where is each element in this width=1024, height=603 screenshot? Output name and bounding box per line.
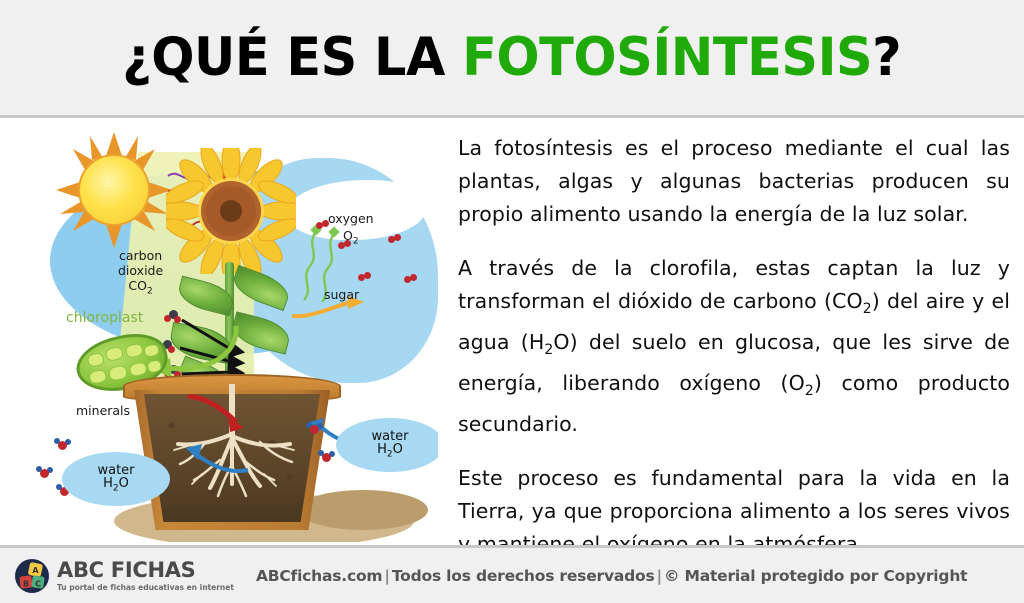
footer-copyright: © Material protegido por Copyright	[664, 567, 967, 585]
p2-sub1: 2	[863, 301, 872, 317]
content-area: water H2O water H2O carbon dioxide CO2 o…	[0, 118, 1024, 545]
page-title: ¿QUÉ ES LA FOTOSÍNTESIS?	[122, 31, 901, 84]
footer-rights: Todos los derechos reservados	[392, 567, 655, 585]
p2-sub3: 2	[805, 383, 814, 399]
water-formula-right: H2O	[377, 443, 403, 460]
sugar-label: sugar	[324, 288, 359, 303]
infographic-page: ¿QUÉ ES LA FOTOSÍNTESIS?	[0, 0, 1024, 603]
photosynthesis-illustration: water H2O water H2O carbon dioxide CO2 o…	[18, 122, 438, 542]
water-label-right: water	[371, 430, 408, 444]
water-uptake-arrow-left-icon	[180, 442, 252, 476]
minerals-label: minerals	[76, 404, 130, 419]
page-title-black: ¿QUÉ ES LA	[122, 27, 462, 88]
water-callout-left: water H2O	[62, 452, 170, 506]
logo-name: ABC FICHAS	[57, 560, 234, 581]
sun-illustration	[54, 130, 174, 250]
chloroplast-label: chloroplast	[66, 310, 143, 327]
water-label-left: water	[97, 464, 134, 478]
abcfichas-logo-text: ABC FICHAS Tu portal de fichas educativa…	[57, 560, 234, 592]
abc-circle-icon: A B C	[14, 558, 50, 594]
header-band: ¿QUÉ ES LA FOTOSÍNTESIS?	[0, 0, 1024, 118]
svg-text:A: A	[32, 566, 39, 575]
water-formula-left: H2O	[103, 477, 129, 494]
oxygen-label: oxygen O2	[328, 212, 374, 247]
svg-text:C: C	[35, 579, 41, 588]
abcfichas-logo-mark: A B C	[14, 558, 50, 594]
sun-core	[80, 156, 148, 224]
page-title-green: FOTOSÍNTESIS	[462, 27, 872, 88]
svg-text:B: B	[23, 579, 29, 588]
abcfichas-logo[interactable]: A B C ABC FICHAS Tu portal de fichas edu…	[14, 558, 234, 594]
article-text-column: La fotosíntesis es el proceso mediante e…	[458, 132, 1010, 561]
water-callout-right: water H2O	[336, 418, 438, 472]
minerals-arrow-icon	[186, 394, 252, 436]
footer-separator-1: |	[382, 567, 391, 585]
footer-site[interactable]: ABCfichas.com	[256, 567, 382, 585]
logo-tagline: Tu portal de fichas educativas en intern…	[57, 583, 234, 592]
carbon-dioxide-label: carbon dioxide CO2	[118, 249, 163, 297]
paragraph-1: La fotosíntesis es el proceso mediante e…	[458, 132, 1010, 231]
page-title-question-mark: ?	[872, 27, 901, 88]
footer-copyright-line: ABCfichas.com|Todos los derechos reserva…	[256, 567, 967, 585]
sunflower-icon	[166, 148, 296, 274]
footer-band: A B C ABC FICHAS Tu portal de fichas edu…	[0, 545, 1024, 603]
footer-separator-2: |	[655, 567, 664, 585]
paragraph-2: A través de la clorofila, estas captan l…	[458, 252, 1010, 441]
